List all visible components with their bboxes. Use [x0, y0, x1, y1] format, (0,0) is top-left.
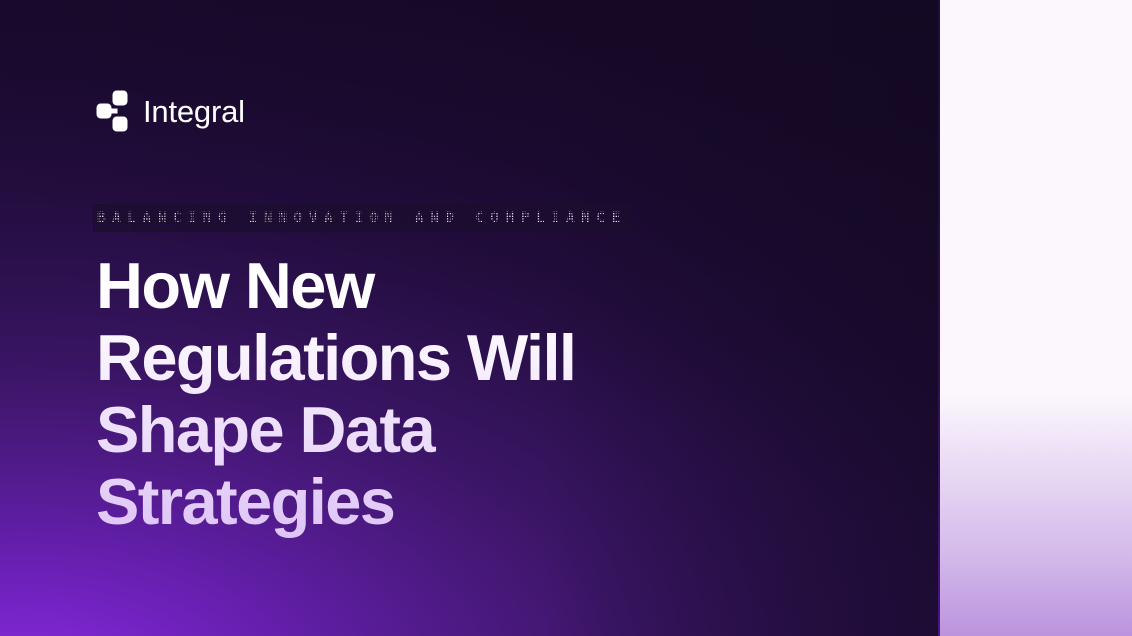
brand-wordmark: Integral: [143, 96, 245, 127]
portrait-artwork: [938, 0, 1132, 636]
hero-banner: Integral BALANCING INNOVATION AND COMPLI…: [0, 0, 1132, 636]
headline-line-3: Shape Data: [96, 394, 816, 466]
integral-squares-mark-icon: [96, 90, 130, 132]
hero-headline: How New Regulations Will Shape Data Stra…: [96, 250, 816, 538]
hero-eyebrow: BALANCING INNOVATION AND COMPLIANCE: [97, 210, 627, 226]
halftone-portrait-panel: [938, 0, 1132, 636]
brand-logo[interactable]: Integral: [96, 90, 245, 132]
hero-content: Integral BALANCING INNOVATION AND COMPLI…: [96, 0, 896, 636]
hero-eyebrow-text: BALANCING INNOVATION AND COMPLIANCE: [97, 210, 627, 226]
headline-line-1: How New: [96, 250, 816, 322]
headline-line-4: Strategies: [96, 466, 816, 538]
headline-line-2: Regulations Will: [96, 322, 816, 394]
panel-left-edge: [938, 0, 940, 636]
